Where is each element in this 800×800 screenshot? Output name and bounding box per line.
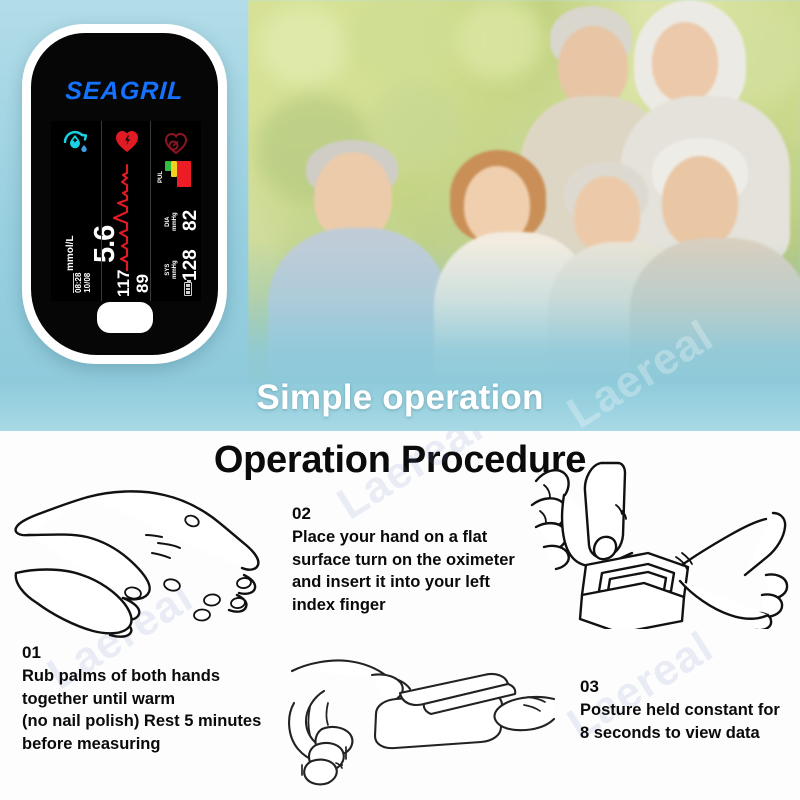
step-01-text: 01 Rub palms of both hands together unti… bbox=[22, 642, 322, 756]
device-screen: SEAGRIL 5.6 mmol/L bbox=[31, 33, 218, 355]
bpm-value: 117 bbox=[114, 270, 134, 297]
glucose-unit: mmol/L bbox=[65, 235, 76, 271]
dia-unit-label: DIA bbox=[165, 217, 171, 227]
step-02-number: 02 bbox=[292, 503, 572, 526]
bokeh-blob bbox=[458, 0, 543, 80]
dia-unit: DIA mmHg bbox=[165, 212, 178, 231]
step-01-illustration bbox=[6, 487, 274, 647]
power-button[interactable] bbox=[97, 302, 153, 333]
photo-teal-overlay bbox=[248, 242, 800, 392]
oximeter-device: SEAGRIL 5.6 mmol/L bbox=[22, 24, 227, 364]
procedure-section: Operation Procedure Laereal Laereal Laer… bbox=[0, 431, 800, 800]
step-01-line-2: together until warm bbox=[22, 688, 322, 711]
bokeh-blob bbox=[258, 6, 348, 86]
step-01-number: 01 bbox=[22, 642, 322, 665]
glucose-timestamp: 08:28 10/08 bbox=[73, 273, 92, 293]
pulse-level-bars bbox=[165, 161, 191, 187]
glucose-time: 08:28 bbox=[73, 273, 83, 293]
dia-value: 82 bbox=[180, 210, 202, 231]
lcd-panel-glucose: 5.6 mmol/L 08:28 10/08 bbox=[51, 121, 101, 301]
battery-icon bbox=[184, 282, 192, 296]
hero-banner-text: Simple operation bbox=[0, 378, 800, 418]
heart-icon bbox=[114, 128, 140, 154]
blood-drop-icon bbox=[61, 129, 91, 155]
step-01-line-4: before measuring bbox=[22, 733, 322, 756]
sys-value: 128 bbox=[180, 249, 202, 281]
step-03-text: 03 Posture held constant for 8 seconds t… bbox=[580, 676, 800, 744]
step-03-number: 03 bbox=[580, 676, 800, 699]
step-02-line-4: index finger bbox=[292, 594, 572, 617]
step-02-line-1: Place your hand on a flat bbox=[292, 526, 572, 549]
step-02-line-2: surface turn on the oximeter bbox=[292, 549, 572, 572]
step-03-line-1: Posture held constant for bbox=[580, 699, 800, 722]
hero-section: Laereal Simple operation SEAGRIL bbox=[0, 0, 800, 431]
pul-label: PUL bbox=[158, 171, 164, 183]
step-02-text: 02 Place your hand on a flat surface tur… bbox=[292, 503, 572, 617]
dia-unit-mmhg: mmHg bbox=[172, 212, 178, 231]
sys-unit-mmhg: mmHg bbox=[172, 260, 178, 279]
lifestyle-photo bbox=[248, 0, 800, 392]
ecg-waveform-icon bbox=[106, 163, 148, 271]
brand-logo: SEAGRIL bbox=[31, 77, 218, 106]
bar-red bbox=[177, 161, 191, 187]
product-infographic: Laereal Simple operation SEAGRIL bbox=[0, 0, 800, 800]
lcd-panel-pulse: 89 117 bbox=[101, 121, 150, 301]
sys-unit: SYS mmHg bbox=[165, 260, 178, 279]
step-02-line-3: and insert it into your left bbox=[292, 571, 572, 594]
bp-cuff-icon bbox=[161, 128, 191, 156]
lcd-panel-blood-pressure: PUL 82 DIA mmHg 128 S bbox=[150, 121, 200, 301]
step-01-line-3: (no nail polish) Rest 5 minutes bbox=[22, 710, 322, 733]
lcd-display: 5.6 mmol/L 08:28 10/08 bbox=[51, 121, 201, 301]
step-01-line-1: Rub palms of both hands bbox=[22, 665, 322, 688]
sys-unit-label: SYS bbox=[165, 264, 171, 276]
step-03-line-2: 8 seconds to view data bbox=[580, 722, 800, 745]
glucose-date: 10/08 bbox=[83, 273, 92, 293]
